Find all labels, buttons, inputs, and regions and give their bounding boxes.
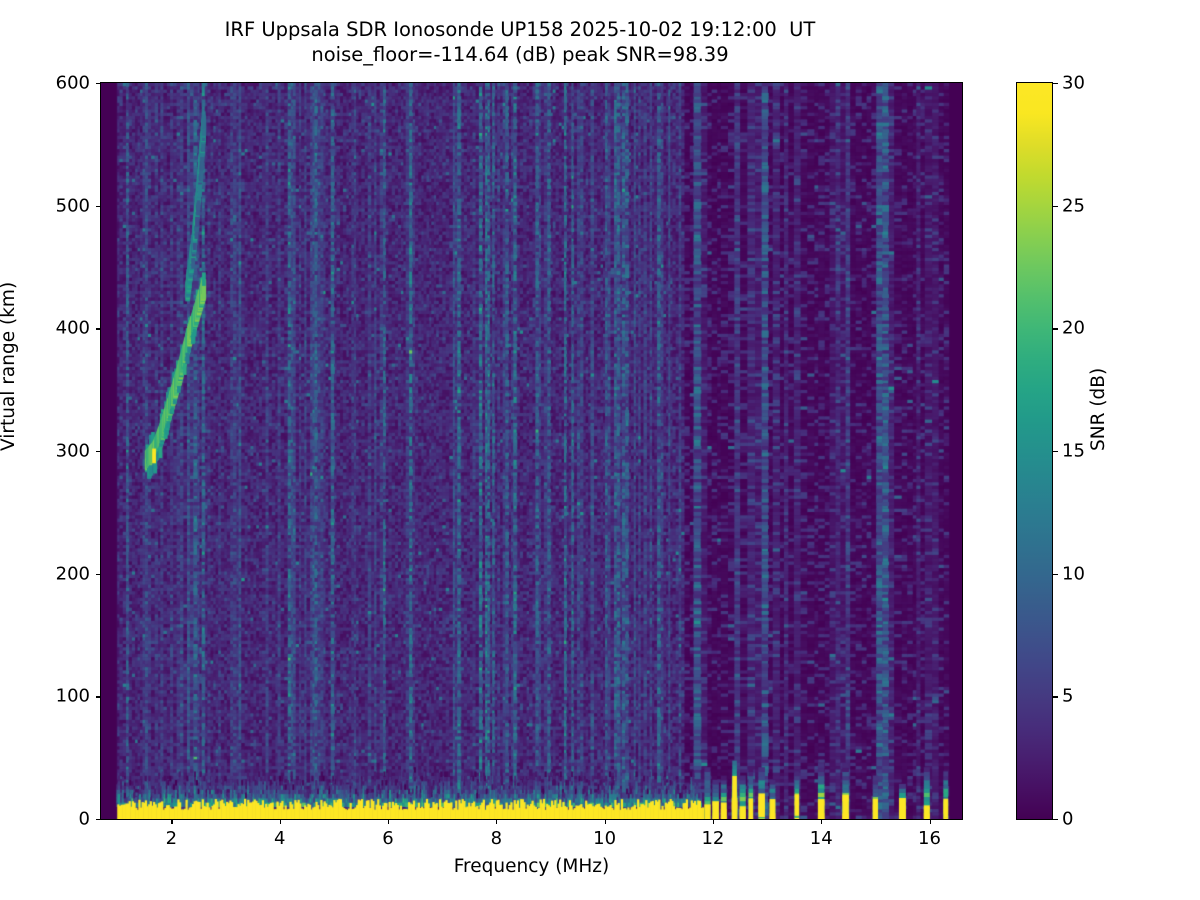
x-tick-mark [605,820,606,824]
y-tick-mark [96,574,100,575]
x-tick-label: 10 [593,828,616,849]
x-tick-label: 6 [382,828,393,849]
y-tick-mark [96,83,100,84]
colorbar-gradient [1017,83,1052,819]
colorbar-label: SNR (dB) [1088,368,1109,451]
y-tick-label: 100 [42,686,90,707]
ionogram-plot-area [100,82,963,820]
x-tick-label: 4 [274,828,285,849]
colorbar-tick-label: 5 [1062,686,1073,707]
x-tick-label: 16 [918,828,941,849]
colorbar-tick-mark [1053,451,1058,452]
y-tick-mark [96,206,100,207]
colorbar-tick-label: 20 [1062,318,1085,339]
x-tick-label: 12 [701,828,724,849]
colorbar [1016,82,1053,820]
colorbar-tick-label: 25 [1062,195,1085,216]
colorbar-tick-label: 0 [1062,809,1073,830]
ionogram-figure: IRF Uppsala SDR Ionosonde UP158 2025-10-… [0,0,1200,900]
x-tick-mark [713,820,714,824]
colorbar-tick-mark [1053,696,1058,697]
y-tick-mark [96,696,100,697]
y-tick-label: 200 [42,563,90,584]
y-tick-label: 0 [42,809,90,830]
x-tick-mark [496,820,497,824]
colorbar-tick-label: 30 [1062,73,1085,94]
x-tick-mark [388,820,389,824]
colorbar-tick-mark [1053,83,1058,84]
x-tick-mark [821,820,822,824]
figure-title: IRF Uppsala SDR Ionosonde UP158 2025-10-… [0,18,1040,68]
y-tick-label: 400 [42,318,90,339]
x-tick-label: 2 [166,828,177,849]
colorbar-tick-mark [1053,819,1058,820]
y-tick-mark [96,328,100,329]
y-tick-mark [96,819,100,820]
colorbar-tick-label: 10 [1062,563,1085,584]
x-tick-label: 14 [810,828,833,849]
y-tick-mark [96,451,100,452]
y-tick-label: 300 [42,441,90,462]
x-axis-label: Frequency (MHz) [100,856,963,877]
x-tick-mark [280,820,281,824]
colorbar-tick-label: 15 [1062,441,1085,462]
colorbar-tick-mark [1053,206,1058,207]
figure-title-line-2: noise_floor=-114.64 (dB) peak SNR=98.39 [0,43,1040,68]
x-tick-mark [171,820,172,824]
x-tick-mark [930,820,931,824]
colorbar-tick-mark [1053,574,1058,575]
ionogram-heatmap [101,83,962,819]
x-tick-label: 8 [491,828,502,849]
colorbar-tick-mark [1053,328,1058,329]
figure-title-line-1: IRF Uppsala SDR Ionosonde UP158 2025-10-… [0,18,1040,43]
y-tick-label: 500 [42,195,90,216]
y-tick-label: 600 [42,73,90,94]
y-axis-label: Virtual range (km) [0,282,19,451]
